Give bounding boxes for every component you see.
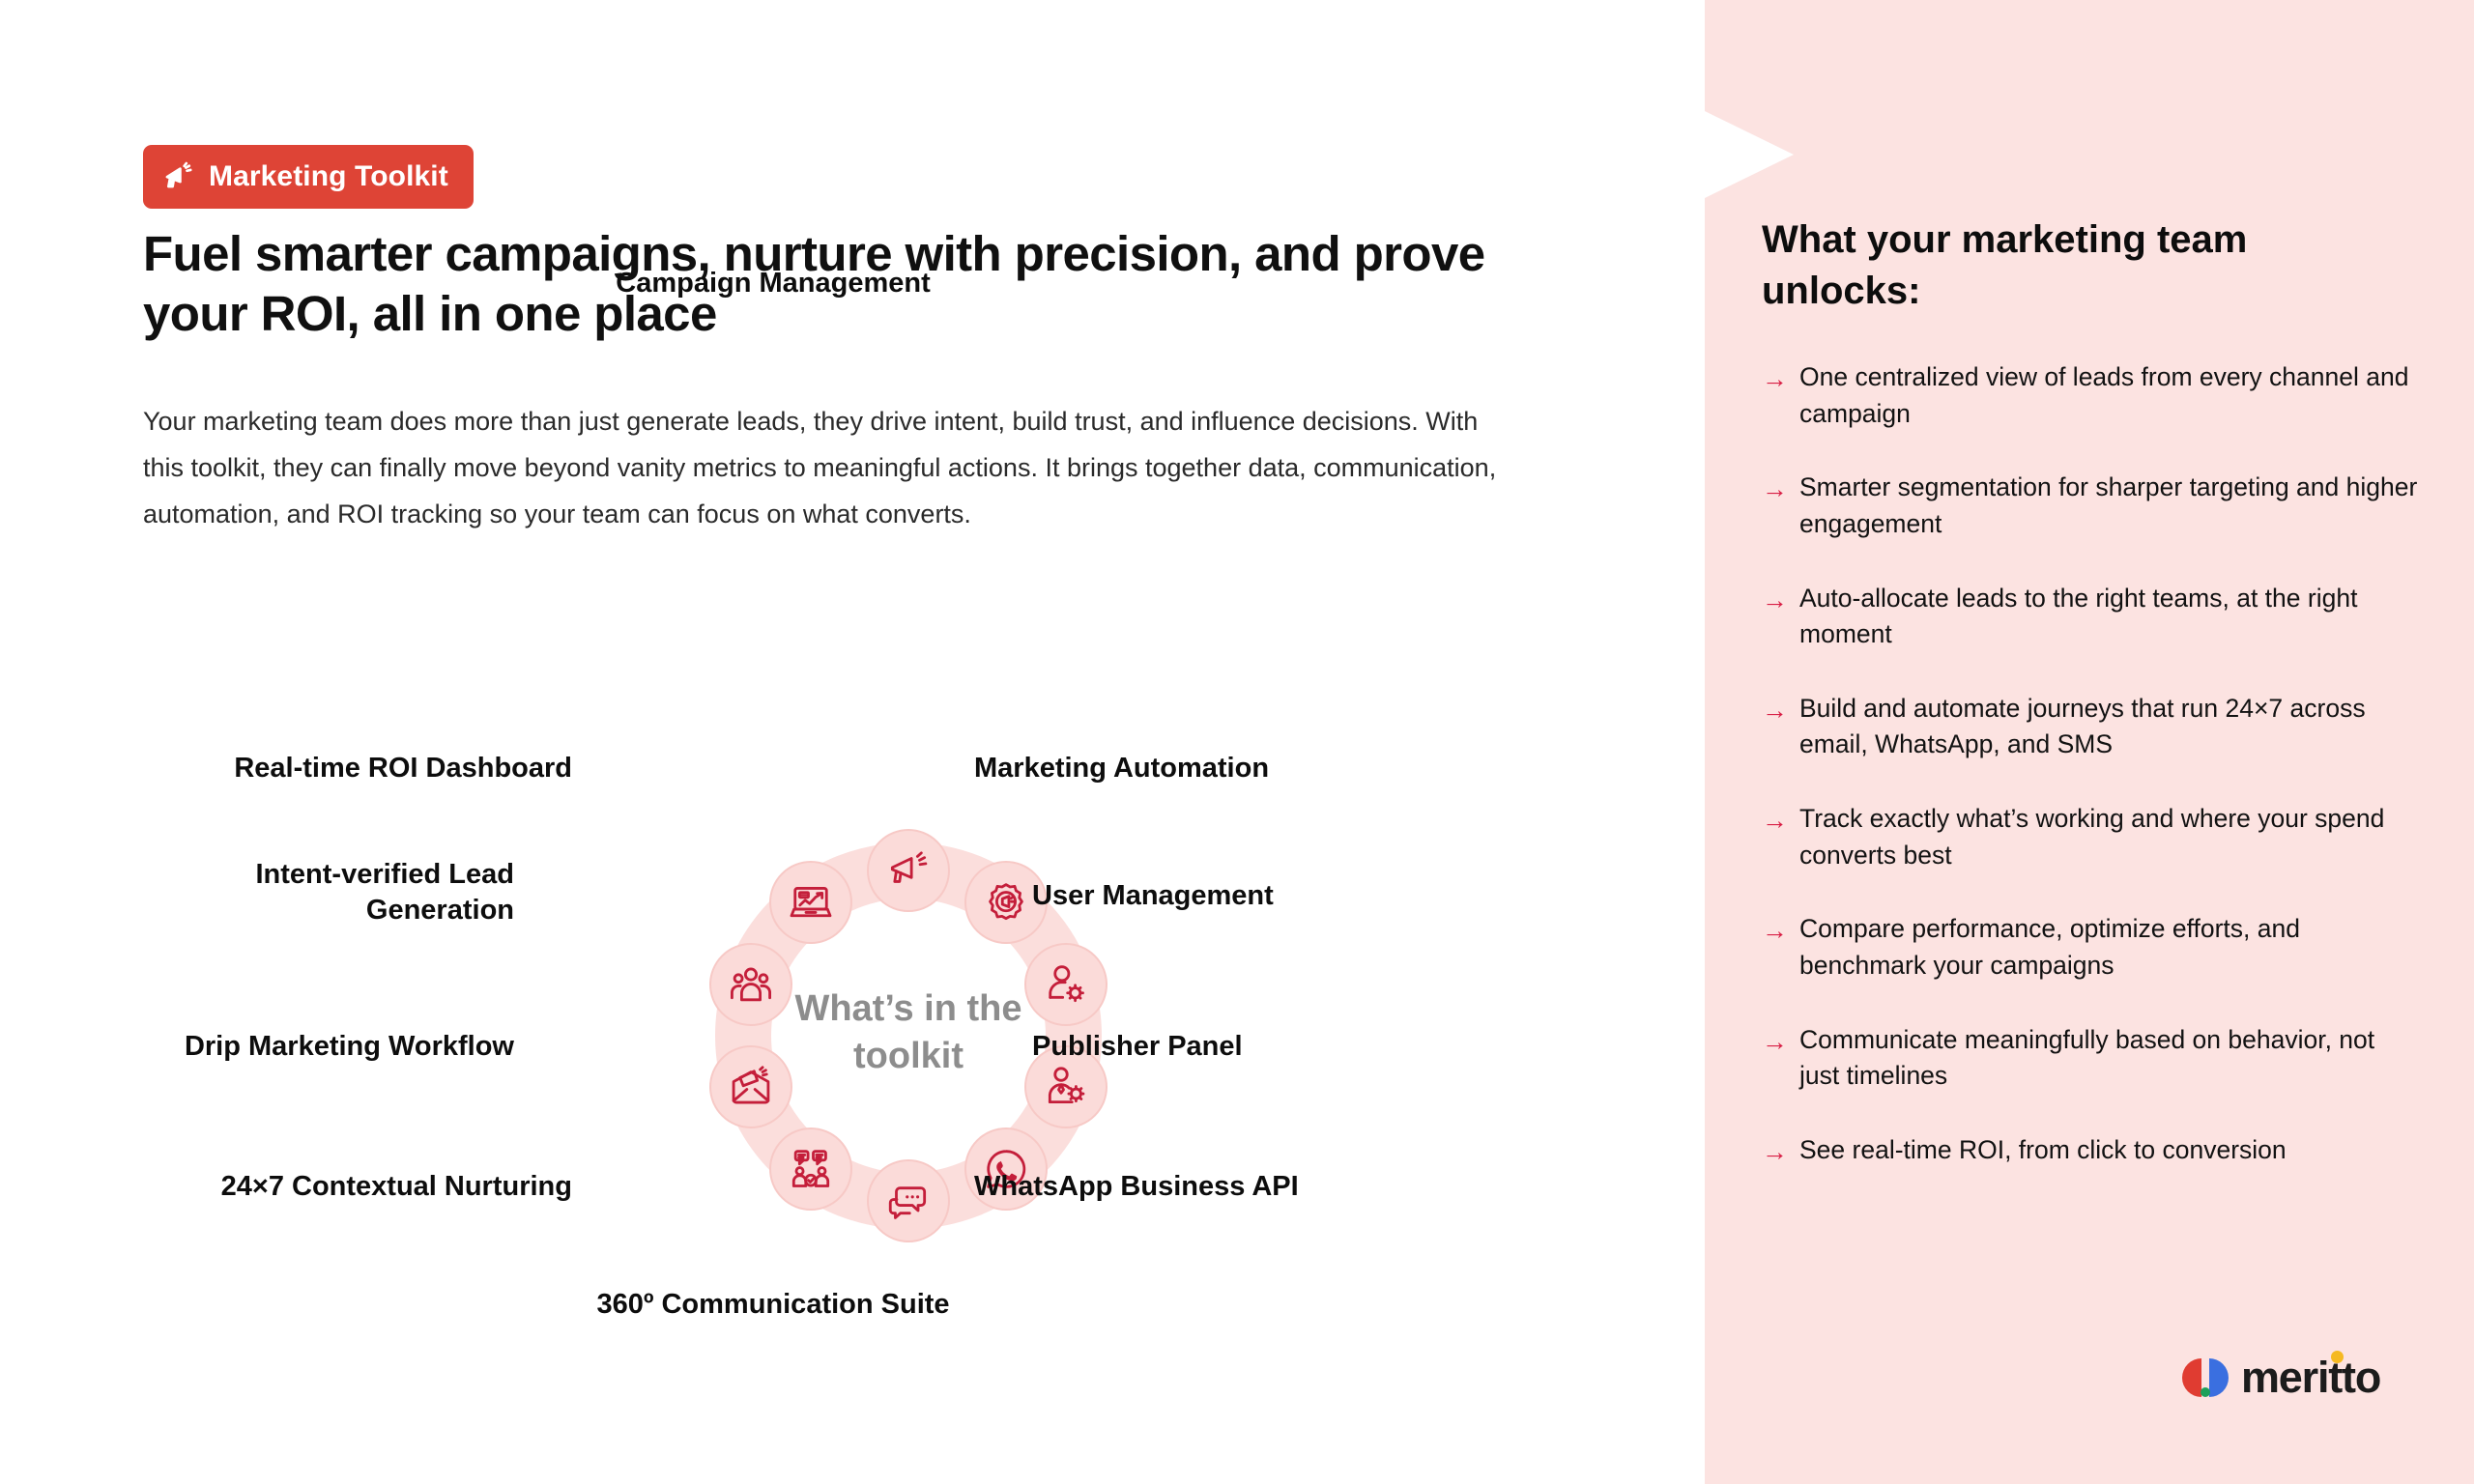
benefit-text: Compare performance, optimize efforts, a… bbox=[1799, 911, 2419, 984]
arrow-right-icon: → bbox=[1762, 359, 1787, 396]
benefit-item: →Smarter segmentation for sharper target… bbox=[1762, 470, 2419, 542]
arrow-right-icon: → bbox=[1762, 801, 1787, 838]
benefit-item: →Track exactly what’s working and where … bbox=[1762, 801, 2419, 873]
benefit-item: →Communicate meaningfully based on behav… bbox=[1762, 1022, 2419, 1095]
people-group-icon bbox=[727, 960, 775, 1009]
meritto-wordmark-text: meritto bbox=[2241, 1353, 2380, 1402]
benefit-text: Communicate meaningfully based on behavi… bbox=[1799, 1022, 2419, 1095]
diagram-node-megaphone[interactable] bbox=[867, 829, 950, 912]
benefit-text: See real-time ROI, from click to convers… bbox=[1799, 1132, 2287, 1169]
arrow-right-icon: → bbox=[1762, 581, 1787, 617]
megaphone-icon bbox=[884, 846, 933, 895]
arrow-right-icon: → bbox=[1762, 911, 1787, 948]
benefit-text: Track exactly what’s working and where y… bbox=[1799, 801, 2419, 873]
diagram-node-user-gear[interactable] bbox=[1024, 943, 1108, 1026]
benefit-item: →Auto-allocate leads to the right teams,… bbox=[1762, 581, 2419, 653]
diagram-node-roi-laptop[interactable] bbox=[769, 861, 852, 944]
gear-megaphone-icon bbox=[982, 878, 1030, 927]
arrow-right-icon: → bbox=[1762, 470, 1787, 506]
panel-heading: What your marketing team unlocks: bbox=[1762, 214, 2380, 317]
benefit-item: →One centralized view of leads from ever… bbox=[1762, 359, 2419, 432]
diagram-node-label: Intent-verified Lead Generation bbox=[128, 857, 514, 928]
diagram-node-label: Marketing Automation bbox=[974, 751, 1477, 786]
benefit-text: Auto-allocate leads to the right teams, … bbox=[1799, 581, 2419, 653]
email-megaphone-icon bbox=[727, 1063, 775, 1111]
roi-laptop-icon bbox=[787, 878, 835, 927]
marketing-toolkit-badge: Marketing Toolkit bbox=[143, 145, 474, 209]
diagram-node-people-group[interactable] bbox=[709, 943, 792, 1026]
diagram-center-label: What’s in the toolkit bbox=[783, 985, 1034, 1081]
intro-paragraph: Your marketing team does more than just … bbox=[143, 398, 1525, 537]
left-content-column: Marketing Toolkit Fuel smarter campaigns… bbox=[0, 0, 1705, 1484]
toolkit-circle-diagram: What’s in the toolkit Campaign Managemen… bbox=[135, 618, 1585, 1314]
diagram-node-label: WhatsApp Business API bbox=[974, 1169, 1477, 1205]
user-gear-icon bbox=[1042, 960, 1090, 1009]
arrow-right-icon: → bbox=[1762, 1022, 1787, 1059]
diagram-node-label: 24×7 Contextual Nurturing bbox=[70, 1169, 572, 1205]
diagram-node-email-megaphone[interactable] bbox=[709, 1045, 792, 1128]
benefits-list: →One centralized view of leads from ever… bbox=[1762, 359, 2419, 1207]
diagram-node-label: Drip Marketing Workflow bbox=[12, 1029, 514, 1065]
diagram-node-label: User Management bbox=[1032, 878, 1535, 914]
megaphone-icon bbox=[162, 158, 195, 196]
benefit-text: Build and automate journeys that run 24×… bbox=[1799, 691, 2419, 763]
meritto-logo-mark bbox=[2178, 1355, 2232, 1401]
diagram-node-label: 360º Communication Suite bbox=[435, 1287, 1111, 1323]
meritto-wordmark: meritto bbox=[2241, 1353, 2380, 1403]
benefit-text: Smarter segmentation for sharper targeti… bbox=[1799, 470, 2419, 542]
diagram-node-label: Campaign Management bbox=[464, 266, 1082, 301]
person-gear-icon bbox=[1042, 1063, 1090, 1111]
chat-bubbles-icon bbox=[884, 1177, 933, 1225]
arrow-right-icon: → bbox=[1762, 1132, 1787, 1169]
benefit-item: →See real-time ROI, from click to conver… bbox=[1762, 1132, 2419, 1169]
benefit-item: →Compare performance, optimize efforts, … bbox=[1762, 911, 2419, 984]
diagram-node-label: Publisher Panel bbox=[1032, 1029, 1535, 1065]
arrow-right-icon: → bbox=[1762, 691, 1787, 728]
benefit-text: One centralized view of leads from every… bbox=[1799, 359, 2419, 432]
group-chat-check-icon bbox=[787, 1145, 835, 1193]
diagram-node-label: Real-time ROI Dashboard bbox=[70, 751, 572, 786]
meritto-logo: meritto bbox=[2178, 1353, 2380, 1403]
meritto-yellow-dot bbox=[2331, 1351, 2344, 1363]
benefit-item: →Build and automate journeys that run 24… bbox=[1762, 691, 2419, 763]
badge-label: Marketing Toolkit bbox=[209, 160, 448, 193]
diagram-node-chat-bubbles[interactable] bbox=[867, 1159, 950, 1242]
